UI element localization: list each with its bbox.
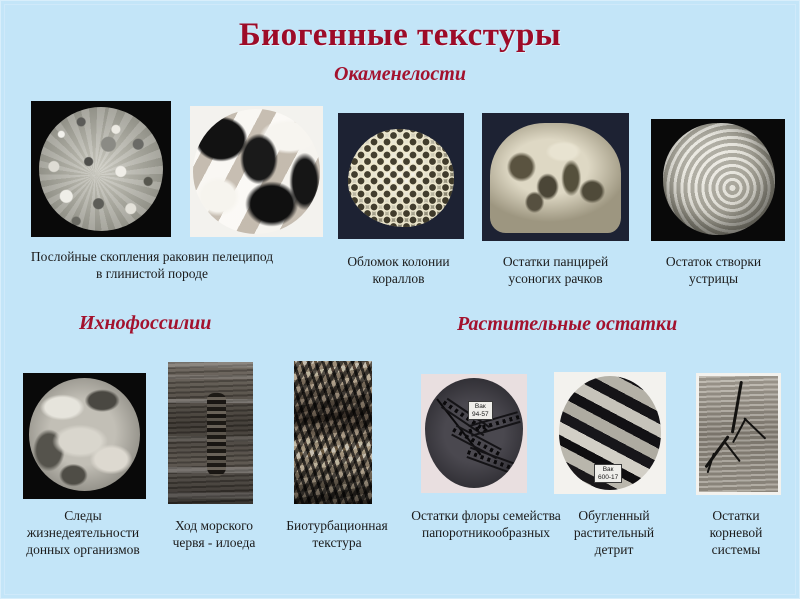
- caption-carbonized-detritus: Обугленный растительный детрит: [554, 507, 674, 558]
- worm-burrow-trace: [207, 393, 226, 475]
- specimen-disc-pelecypod: [39, 107, 163, 231]
- fern-frond-icon-3: [467, 450, 518, 472]
- caption-marine-worm-burrow: Ход морского червя - илоеда: [158, 517, 270, 551]
- caption-root-system: Остатки корневой системы: [686, 507, 786, 558]
- figure-bioturbation-texture: [294, 361, 372, 504]
- figure-barnacle-shells: [482, 113, 629, 241]
- specimen-label-detritus-line1: Вак: [603, 466, 614, 473]
- specimen-label-fern-line2: 94-57: [472, 411, 489, 418]
- specimen-slab-worm-burrow: [168, 362, 253, 504]
- caption-bioturbation-texture: Биотурбационная текстура: [273, 517, 401, 551]
- specimen-barnacle-body: [490, 123, 621, 233]
- section-title-plant-remains: Растительные остатки: [457, 313, 677, 336]
- caption-pelecypod-shells: Послойные скопления раковин пелеципод в …: [27, 248, 277, 282]
- specimen-label-fern-line1: Вак: [475, 403, 486, 410]
- specimen-oyster-body: [663, 123, 775, 235]
- caption-barnacle-shells: Остатки панцирей усоногих рачков: [478, 253, 633, 287]
- caption-oyster-valve: Остаток створки устрицы: [641, 253, 786, 287]
- specimen-disc-benthic-traces: [29, 378, 140, 491]
- figure-fern-flora: Вак 94-57: [421, 374, 527, 493]
- slide-canvas: Биогенные текстуры Окаменелости Ихнофосс…: [0, 0, 800, 599]
- figure-marine-worm-burrow: [168, 362, 253, 504]
- figure-shell-accumulation-bw: [190, 106, 323, 237]
- section-title-fossils: Окаменелости: [1, 63, 799, 86]
- specimen-slab-root-system: [699, 376, 778, 492]
- root-trace-branch-4: [723, 440, 740, 461]
- section-title-ichnofossils: Ихнофоссилии: [79, 312, 211, 335]
- caption-coral-colony: Обломок колонии кораллов: [326, 253, 471, 287]
- caption-benthic-traces: Следы жизнедеятельности донных организмо…: [9, 507, 157, 558]
- specimen-disc-shell-bw: [193, 109, 320, 234]
- figure-coral-colony: [338, 113, 464, 239]
- figure-carbonized-detritus: Вак 600-17: [554, 372, 666, 494]
- specimen-coral-body: [348, 129, 454, 227]
- caption-fern-flora: Остатки флоры семейства папоротникообраз…: [406, 507, 566, 541]
- specimen-slab-bioturbation: [294, 361, 372, 504]
- figure-root-system: [696, 373, 781, 495]
- figure-pelecypod-shells: [31, 101, 171, 237]
- page-title: Биогенные текстуры: [1, 17, 799, 54]
- root-trace-branch-1: [744, 417, 767, 439]
- specimen-disc-fern: [425, 378, 523, 488]
- coral-cell-pattern-offset: [348, 129, 454, 227]
- specimen-label-detritus: Вак 600-17: [594, 464, 622, 483]
- figure-oyster-valve: [651, 119, 785, 241]
- specimen-label-detritus-line2: 600-17: [598, 474, 618, 481]
- specimen-label-fern: Вак 94-57: [468, 401, 493, 420]
- figure-benthic-traces: [23, 373, 146, 499]
